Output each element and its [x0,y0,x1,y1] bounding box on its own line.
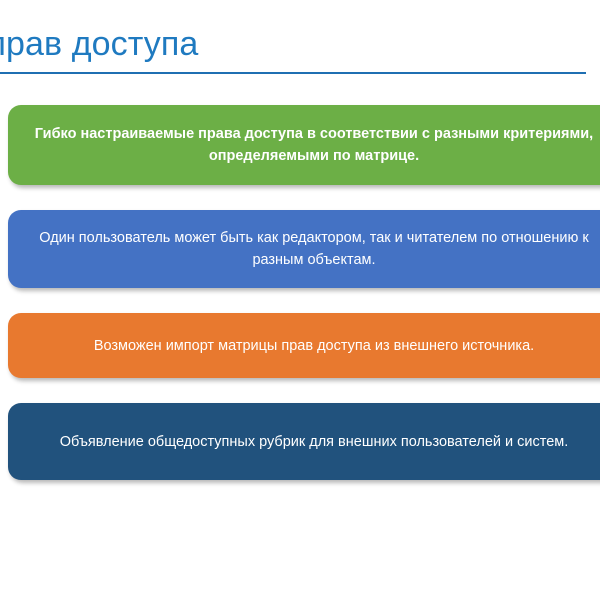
bar-list: Гибко настраиваемые права доступа в соот… [0,0,600,600]
bar-label: Один пользователь может быть как редакто… [30,227,600,271]
bar-public-sections[interactable]: Объявление общедоступных рубрик для внеш… [8,403,600,480]
bar-label: Возможен импорт матрицы прав доступа из … [30,335,600,357]
bar-label: Гибко настраиваемые права доступа в соот… [30,123,600,167]
bar-matrix-import[interactable]: Возможен импорт матрицы прав доступа из … [8,313,600,378]
bar-editor-and-reader[interactable]: Один пользователь может быть как редакто… [8,210,600,288]
bar-flexible-access-rights[interactable]: Гибко настраиваемые права доступа в соот… [8,105,600,185]
presentation-slide: ление прав доступа Гибко настраиваемые п… [0,0,600,600]
bar-label: Объявление общедоступных рубрик для внеш… [30,431,600,453]
